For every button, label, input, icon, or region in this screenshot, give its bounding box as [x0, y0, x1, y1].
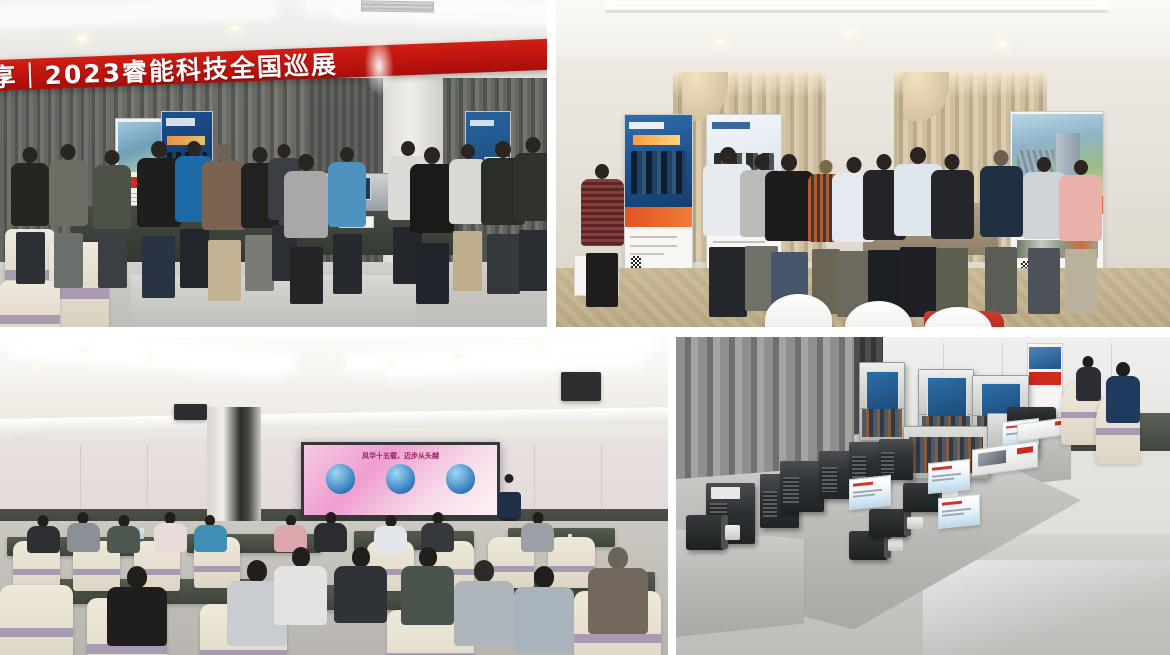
photo-exhibition-hall-demo-area[interactable]: 享｜2023睿能科技全国巡展 — [0, 0, 547, 327]
downlight — [240, 344, 247, 348]
photo-rollup-banner-viewing-area[interactable] — [556, 0, 1170, 327]
slide-column — [375, 460, 425, 496]
slide-column — [315, 460, 365, 496]
seated-attendee — [521, 512, 554, 553]
attendee — [514, 137, 547, 291]
floor-reflection — [923, 560, 1170, 655]
attendee — [328, 147, 366, 294]
servo-drive — [879, 439, 914, 480]
ceiling-cove — [604, 1, 1109, 13]
attendee-pink — [1059, 160, 1102, 314]
water-bottle — [140, 528, 144, 539]
seated-attendee — [67, 512, 100, 553]
attendee-plaid — [581, 164, 624, 308]
seated-attendee — [107, 566, 167, 649]
seated-attendee — [401, 547, 454, 630]
seated-attendee — [1106, 362, 1141, 426]
servo-motor — [686, 515, 726, 550]
downlight — [845, 30, 854, 35]
attendee — [137, 141, 181, 298]
ceiling-vent — [361, 0, 434, 12]
attendee — [11, 147, 49, 284]
seated-attendee — [107, 515, 140, 553]
seated-attendee — [274, 547, 327, 630]
attendee — [765, 154, 814, 318]
banquet-chair — [0, 585, 73, 655]
attendee — [202, 144, 246, 301]
attendee — [980, 150, 1023, 314]
downlight — [716, 40, 725, 45]
rollup-banner-ac-drive-system — [624, 114, 694, 280]
downlight — [998, 42, 1007, 47]
seated-attendee — [27, 515, 60, 553]
servo-motor — [869, 509, 909, 538]
photo-conference-presentation-room[interactable]: 风华十五载，迈步从头越 — [0, 337, 668, 655]
seated-attendee — [334, 547, 387, 627]
demo-case — [859, 362, 905, 440]
photo-product-display-tables[interactable] — [676, 337, 1170, 655]
seated-attendee — [194, 515, 227, 553]
seated-attendee — [514, 566, 574, 655]
downlight — [230, 26, 239, 31]
seated-attendee — [588, 547, 648, 636]
banner-light-glare — [363, 36, 395, 97]
attendee — [410, 147, 454, 304]
servo-drive — [780, 461, 824, 512]
seated-attendee — [1076, 356, 1101, 404]
wall-speaker — [561, 372, 601, 401]
slide-column — [435, 460, 485, 496]
attendee — [931, 154, 974, 314]
banquet-chair — [0, 281, 60, 327]
downlight — [33, 364, 40, 368]
product-placard — [849, 475, 891, 510]
seated-attendee — [454, 560, 514, 649]
presentation-screen: 风华十五载，迈步从头越 — [301, 442, 501, 518]
product-placard — [928, 459, 970, 494]
downlight — [77, 36, 86, 41]
photo-collage: 享｜2023睿能科技全国巡展 — [0, 0, 1170, 655]
ceiling-speaker — [174, 404, 207, 420]
attendee — [93, 150, 131, 287]
slide-title: 风华十五载，迈步从头越 — [362, 451, 439, 461]
ceiling-light-strip — [0, 1, 274, 25]
seated-attendee — [154, 512, 187, 553]
attendee — [284, 154, 328, 304]
attendee — [49, 144, 87, 288]
downlight — [327, 351, 334, 355]
product-placard — [938, 494, 980, 529]
